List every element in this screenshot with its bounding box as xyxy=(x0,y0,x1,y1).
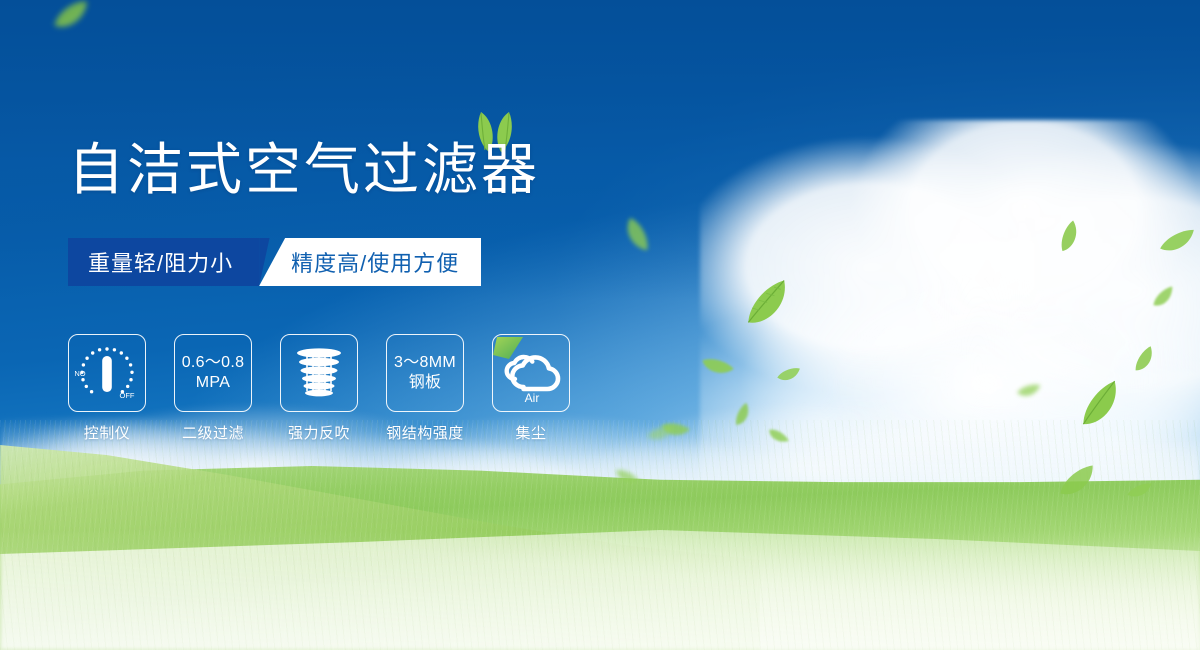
pressure-text-icon: 0.6～0.8 MPA xyxy=(182,353,245,392)
feature-label: 控制仪 xyxy=(84,422,131,443)
subtitle-bar: 重量轻/阻力小 精度高/使用方便 xyxy=(68,238,481,286)
subtitle-right-segment: 精度高/使用方便 xyxy=(259,238,481,286)
filter-stack-icon xyxy=(291,344,347,402)
feature-icon-box xyxy=(280,334,358,412)
feature-list: NO OFF 控制仪 0.6～0.8 MPA 二级过滤 xyxy=(68,334,570,443)
feature-label: 强力反吹 xyxy=(288,422,350,443)
feature-label: 集尘 xyxy=(515,422,546,443)
cloud-air-label: Air xyxy=(525,391,540,405)
gauge-label-on: NO xyxy=(74,369,85,378)
promo-banner: 自洁式空气过滤器 重量轻/阻力小 精度高/使用方便 xyxy=(0,0,1200,650)
feature-item-strong-blowback[interactable]: 强力反吹 xyxy=(280,334,358,443)
feature-icon-box: Air xyxy=(492,334,570,412)
feature-item-steel-strength[interactable]: 3～8MM 钢板 钢结构强度 xyxy=(386,334,464,443)
page-title: 自洁式空气过滤器 xyxy=(68,142,540,198)
cloud-air-icon: Air xyxy=(493,335,570,412)
gauge-label-off: OFF xyxy=(120,391,135,400)
feature-icon-box: NO OFF xyxy=(68,334,146,412)
feature-label: 钢结构强度 xyxy=(386,422,464,443)
feature-item-two-stage-filter[interactable]: 0.6～0.8 MPA 二级过滤 xyxy=(174,334,252,443)
feature-icon-box: 3～8MM 钢板 xyxy=(386,334,464,412)
steel-plate-text-icon: 3～8MM 钢板 xyxy=(394,353,456,392)
feature-label: 二级过滤 xyxy=(182,422,244,443)
feature-icon-box: 0.6～0.8 MPA xyxy=(174,334,252,412)
subtitle-left-segment: 重量轻/阻力小 xyxy=(68,238,259,286)
feature-item-dust-collection[interactable]: Air 集尘 xyxy=(492,334,570,443)
gauge-icon: NO OFF xyxy=(70,336,144,410)
feature-item-control-meter[interactable]: NO OFF 控制仪 xyxy=(68,334,146,443)
